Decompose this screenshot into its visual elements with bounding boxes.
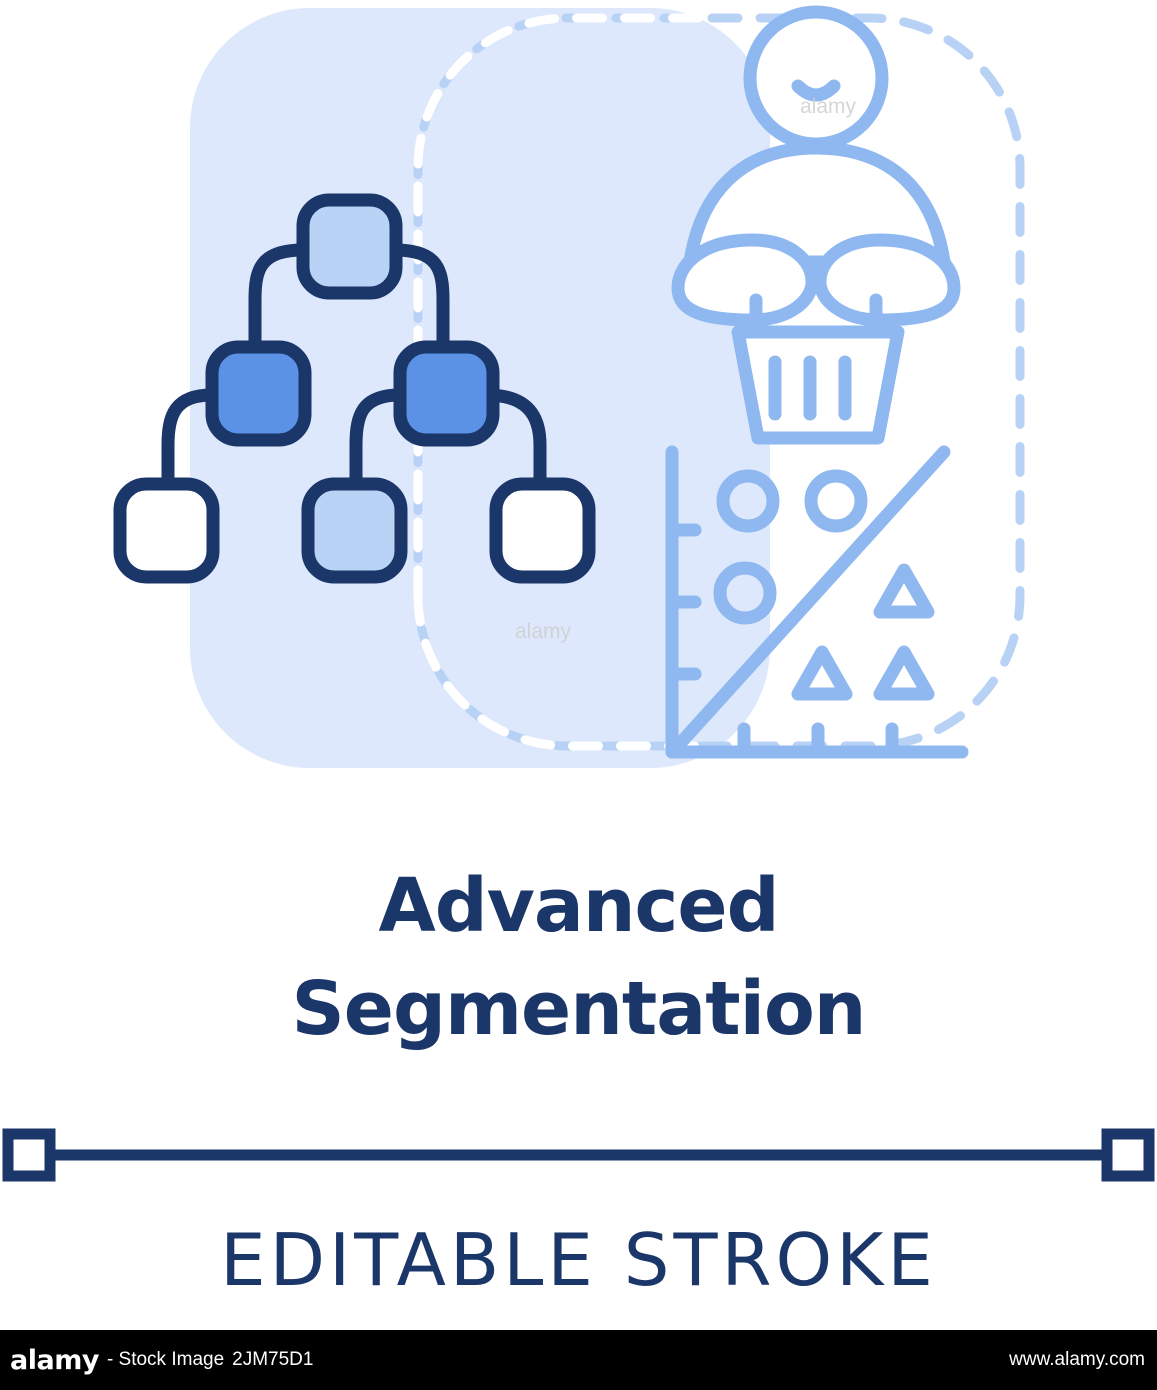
tree-node-leaf-3 [496,484,589,577]
footer-stock-text: - Stock Image [107,1349,224,1371]
scatter-marker-triangle [880,570,928,612]
footer-image-id: 2JM75D1 [232,1349,313,1371]
alamy-footer-bar: alamy - Stock Image 2JM75D1 www.alamy.co… [0,1330,1157,1390]
tree-node-right-branch [400,347,493,440]
footer-url: www.alamy.com [1009,1330,1145,1390]
footer-left-group: alamy - Stock Image 2JM75D1 [10,1330,313,1390]
tree-node-leaf-2 [308,484,401,577]
illustration-artboard [0,0,1157,820]
scatter-marker-circle [811,476,861,526]
shopper-head-icon [750,12,882,144]
tree-node-root [303,200,396,293]
title-line-2: Segmentation [0,958,1157,1061]
title-line-1: Advanced [0,855,1157,958]
editable-stroke-indicator [0,1110,1157,1200]
tree-node-leaf-1 [120,484,213,577]
tree-node-left-branch [212,347,305,440]
stroke-endpoint-right-handle [1107,1134,1149,1176]
scatter-marker-triangle [880,652,928,694]
image-canvas: alamy alamy Advanced Segmentation EDITAB… [0,0,1157,1390]
scatter-marker-triangle [798,652,846,694]
stroke-endpoint-left-handle [8,1134,50,1176]
editable-stroke-label: EDITABLE STROKE [0,1218,1157,1302]
shopper-left-arm [678,240,812,320]
alamy-logo: alamy [10,1345,99,1376]
concept-title: Advanced Segmentation [0,855,1157,1061]
basket-body [738,332,898,438]
shopper-right-arm [820,240,954,320]
